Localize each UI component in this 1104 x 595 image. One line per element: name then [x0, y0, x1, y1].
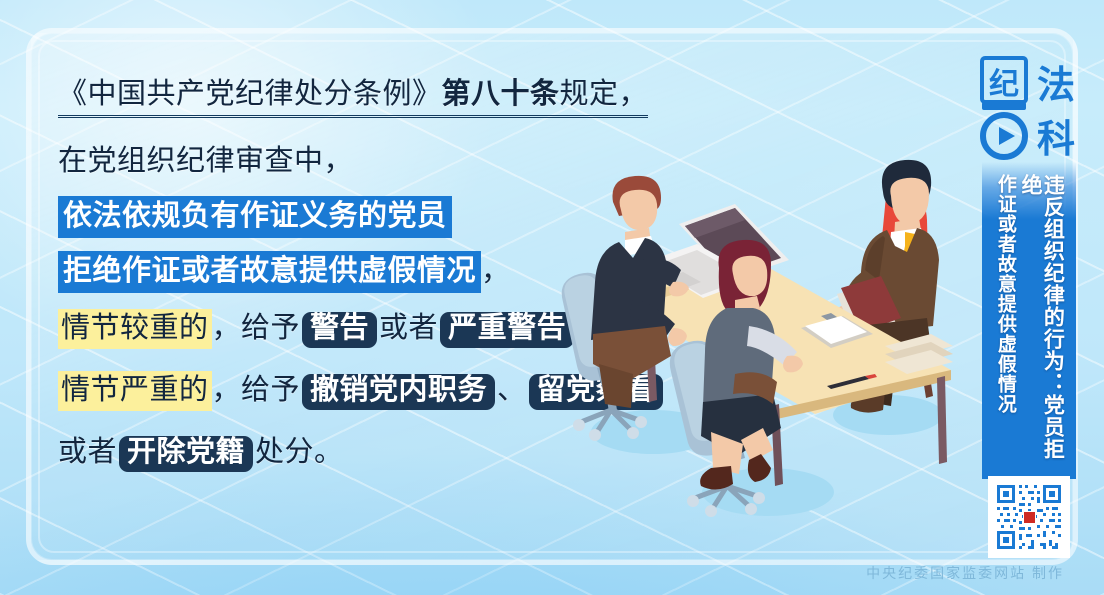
- line6-a: ，给予: [212, 374, 301, 406]
- regulation-text-block: 《中国共产党纪律处分条例》第八十条规定， 在党组织纪律审查中， 依法依规负有作证…: [58, 80, 598, 498]
- line4-comma: ，: [481, 255, 511, 287]
- text-line-2: 在党组织纪律审查中，: [58, 147, 598, 176]
- line7-b: 处分。: [255, 436, 344, 468]
- jifa-baike-logo[interactable]: 纪 法 科: [978, 54, 1082, 162]
- line2-text: 在党组织纪律审查中，: [58, 145, 353, 177]
- play-triangle-icon: [999, 127, 1015, 145]
- logo-char-ji: 纪: [989, 68, 1019, 101]
- article-number: 第八十条: [442, 78, 560, 110]
- vertical-text-left: 作证或者故意提供虚假情况: [995, 174, 1015, 479]
- footer-credit: 中央纪委国家监委网站 制作: [866, 563, 1064, 583]
- line1-suffix: 规定，: [560, 78, 649, 110]
- penalty-badge-expulsion: 开除党籍: [119, 436, 253, 472]
- highlight-blue-refuse-testify: 拒绝作证或者故意提供虚假情况: [58, 251, 481, 293]
- highlight-yellow-moderate: 情节较重的: [58, 309, 212, 349]
- penalty-badge-remove-post: 撤销党内职务: [302, 374, 495, 410]
- text-line-4: 拒绝作证或者故意提供虚假情况，: [58, 257, 598, 286]
- highlight-yellow-severe: 情节严重的: [58, 371, 212, 411]
- text-line-6: 情节严重的，给予撤销党内职务、留党察看: [58, 374, 598, 410]
- line5-a: ，给予: [212, 312, 301, 344]
- logo-char-fa: 法: [1037, 65, 1075, 107]
- highlight-blue-party-member-duty: 依法依规负有作证义务的党员: [58, 196, 452, 238]
- text-line-5: 情节较重的，给予警告或者严重警告处分；: [58, 312, 598, 348]
- text-line-1: 《中国共产党纪律处分条例》第八十条规定，: [58, 80, 648, 118]
- line6-b: 、: [497, 374, 527, 406]
- logo-char-ke: 科: [1037, 119, 1075, 161]
- poster-canvas: 《中国共产党纪律处分条例》第八十条规定， 在党组织纪律审查中， 依法依规负有作证…: [0, 0, 1104, 595]
- regulation-title: 《中国共产党纪律处分条例》: [58, 78, 442, 110]
- penalty-badge-warning: 警告: [302, 312, 377, 348]
- text-line-3: 依法依规负有作证义务的党员: [58, 202, 598, 231]
- line7-a: 或者: [58, 436, 117, 468]
- vertical-title-banner: 违反组织纪律的行为：党员拒绝 作证或者故意提供虚假情况: [982, 162, 1076, 479]
- text-line-7: 或者开除党籍处分。: [58, 436, 598, 472]
- line5-b: 或者: [379, 312, 438, 344]
- vertical-text-right: 违反组织纪律的行为：党员拒绝: [1019, 174, 1064, 479]
- isometric-meeting-illustration: [535, 120, 975, 520]
- center-stamp-icon: [1024, 512, 1035, 523]
- right-rail: 纪 法 科 违反组织纪律的行为：党员拒绝 作证或者故意提供虚假情况: [970, 46, 1088, 566]
- qr-code[interactable]: [988, 476, 1070, 558]
